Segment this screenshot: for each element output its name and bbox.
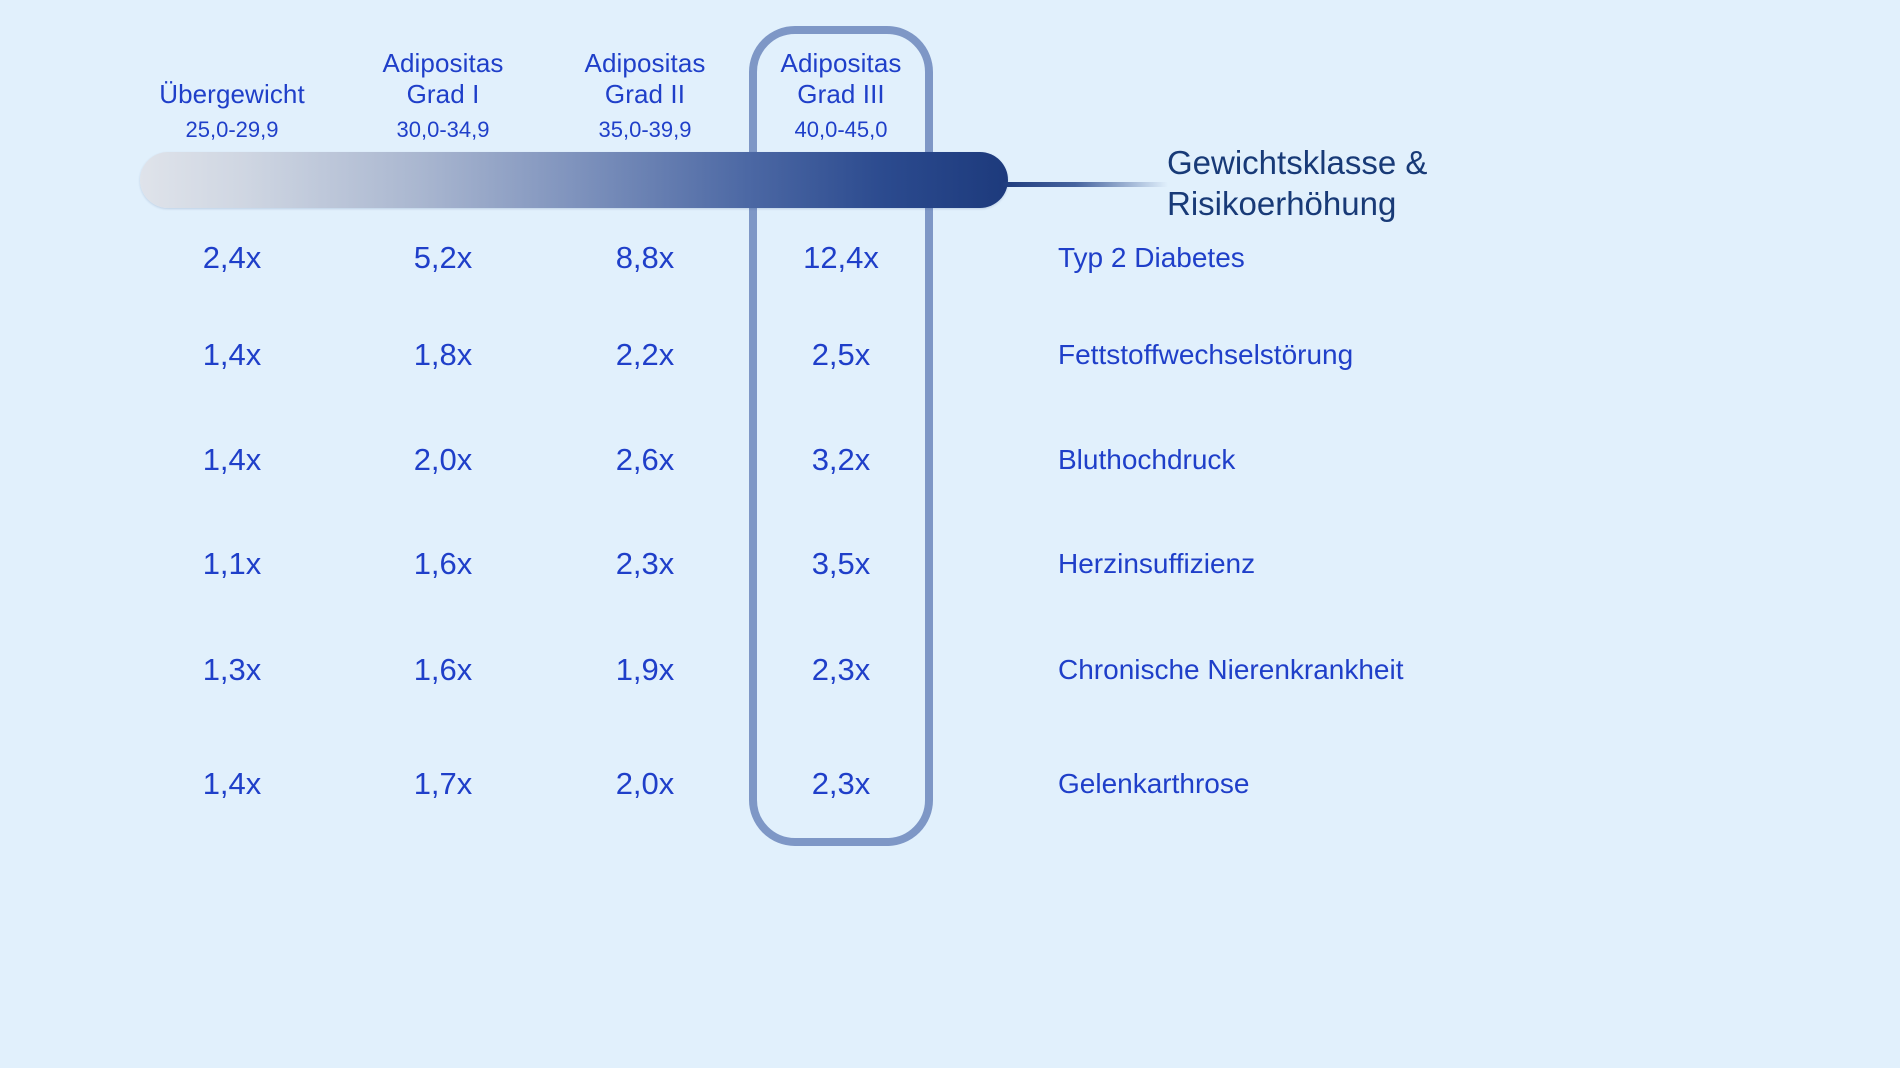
column-header-range: 40,0-45,0 bbox=[711, 115, 971, 145]
condition-label: Gelenkarthrose bbox=[1058, 764, 1758, 804]
condition-label: Typ 2 Diabetes bbox=[1058, 238, 1758, 278]
infographic-canvas: Übergewicht 25,0-29,9 Adipositas Grad I … bbox=[0, 0, 1900, 1068]
page-title: Gewichtsklasse & Risikoerhöhung bbox=[1167, 142, 1787, 224]
column-header-name: Adipositas Grad III bbox=[711, 48, 971, 110]
table-row: 1,1x 1,6x 2,3x 3,5x Herzinsuffizienz bbox=[0, 544, 1900, 584]
risk-value: 3,2x bbox=[711, 440, 971, 480]
severity-gradient-bar bbox=[140, 152, 1008, 208]
gradient-fill bbox=[140, 152, 1008, 208]
highlight-capsule-grad-iii bbox=[749, 26, 933, 846]
table-row: 1,4x 1,7x 2,0x 2,3x Gelenkarthrose bbox=[0, 764, 1900, 804]
condition-label: Chronische Nierenkrankheit bbox=[1058, 650, 1758, 690]
gradient-connector-line bbox=[1000, 182, 1168, 187]
risk-value: 2,3x bbox=[711, 764, 971, 804]
condition-label: Fettstoffwechselstörung bbox=[1058, 335, 1758, 375]
page-title-line-1: Gewichtsklasse & bbox=[1167, 142, 1787, 183]
table-row: 2,4x 5,2x 8,8x 12,4x Typ 2 Diabetes bbox=[0, 238, 1900, 278]
condition-label: Herzinsuffizienz bbox=[1058, 544, 1758, 584]
table-row: 1,4x 2,0x 2,6x 3,2x Bluthochdruck bbox=[0, 440, 1900, 480]
risk-value: 2,3x bbox=[711, 650, 971, 690]
column-header-4: Adipositas Grad III 40,0-45,0 bbox=[711, 48, 971, 145]
risk-value: 3,5x bbox=[711, 544, 971, 584]
table-row: 1,3x 1,6x 1,9x 2,3x Chronische Nierenkra… bbox=[0, 650, 1900, 690]
risk-value: 12,4x bbox=[711, 238, 971, 278]
table-row: 1,4x 1,8x 2,2x 2,5x Fettstoffwechselstör… bbox=[0, 335, 1900, 375]
page-title-line-2: Risikoerhöhung bbox=[1167, 183, 1787, 224]
condition-label: Bluthochdruck bbox=[1058, 440, 1758, 480]
risk-value: 2,5x bbox=[711, 335, 971, 375]
